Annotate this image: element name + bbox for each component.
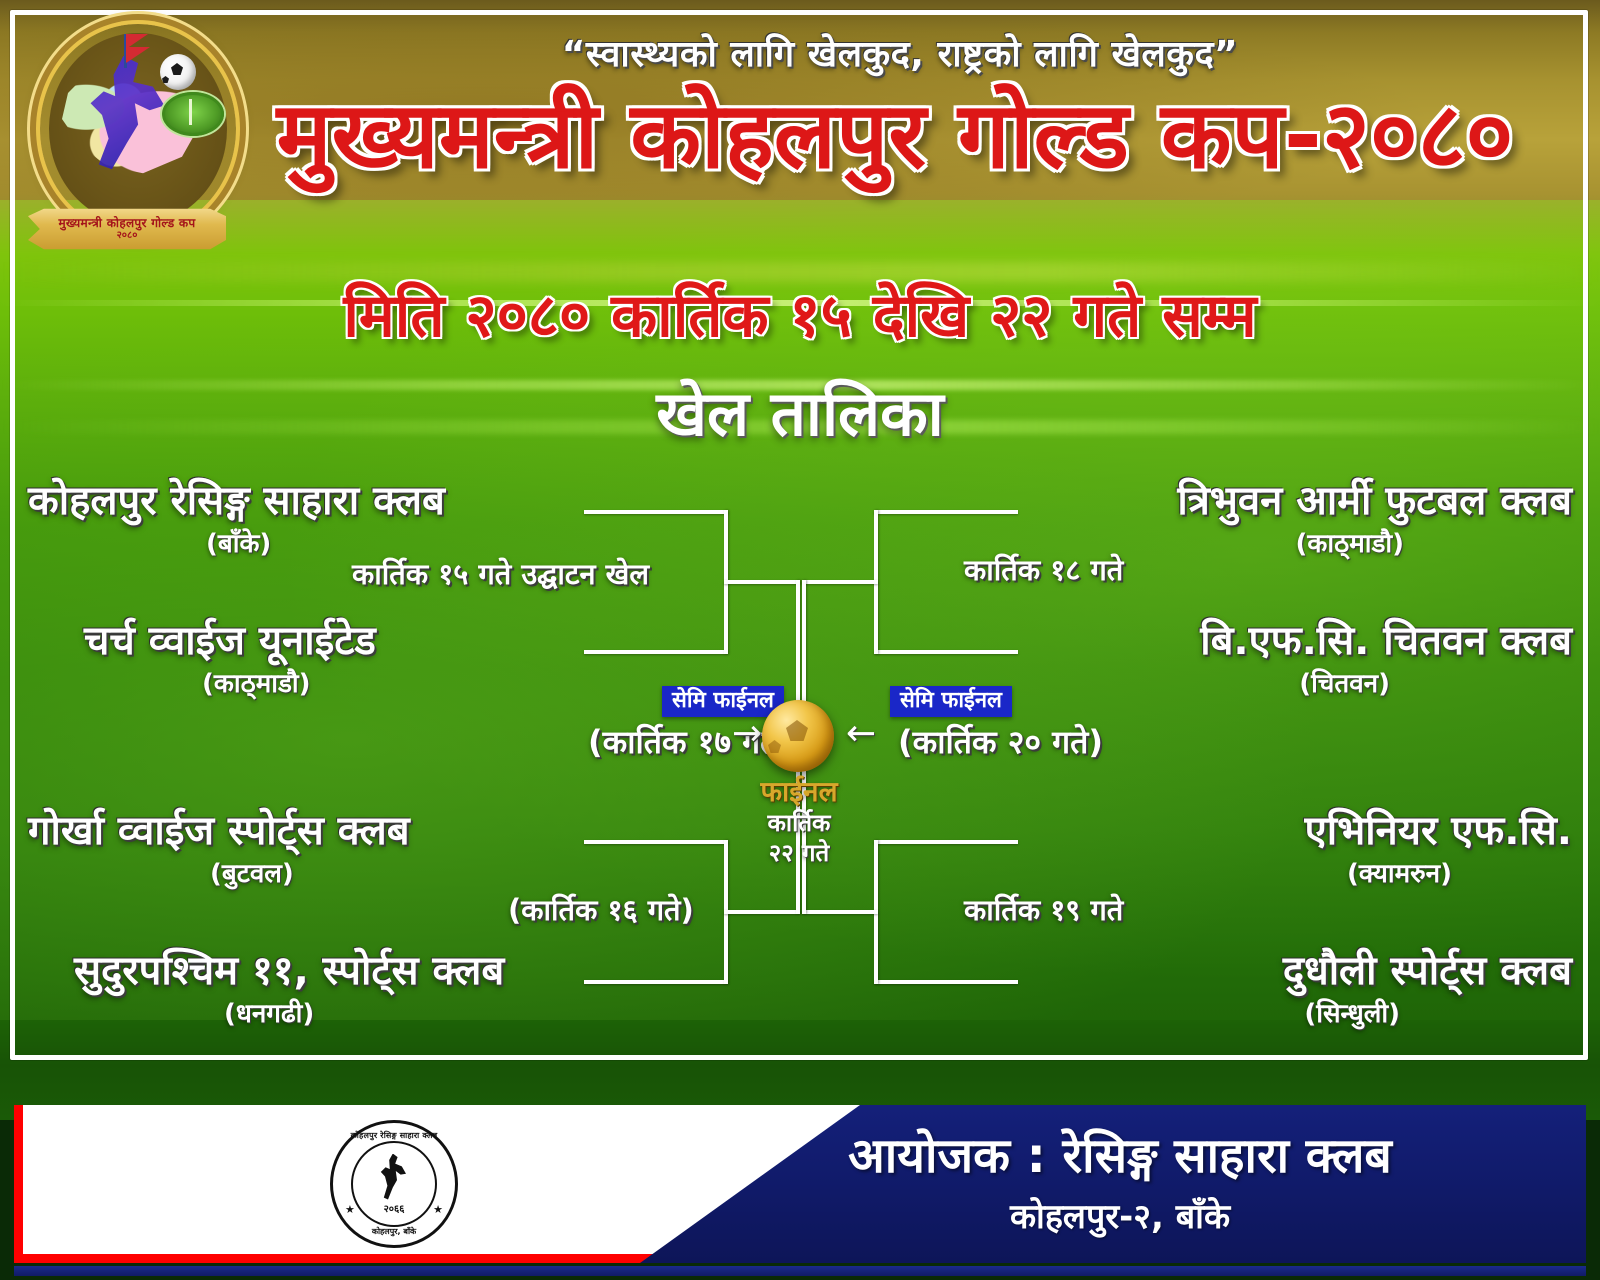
team-name: त्रिभुवन आर्मी फुटबल क्लब xyxy=(1010,480,1572,522)
star-icon: ★ xyxy=(433,1204,443,1215)
footer: कोहलपुर रेसिङ्ग साहारा क्लब २०६६ ★ ★ कोह… xyxy=(0,1100,1600,1280)
tournament-poster: मुख्यमन्त्री कोहलपुर गोल्ड कप २०८० “स्वा… xyxy=(0,0,1600,1280)
bracket-connector xyxy=(584,650,728,654)
semifinal-right-badge: सेमि फाईनल xyxy=(890,686,1012,717)
team-city: (धनगढी) xyxy=(74,994,588,1030)
bracket-team-right-1: त्रिभुवन आर्मी फुटबल क्लब (काठ्माडौ) xyxy=(1010,480,1572,560)
club-seal-bottom-text: कोहलपुर, बाँके xyxy=(333,1226,455,1237)
bracket-team-right-2: बि.एफ.सि. चितवन क्लब (चितवन) xyxy=(1010,620,1572,700)
team-name: एभिनियर एफ.सि. xyxy=(1010,810,1572,852)
semifinal-right-date: (कार्तिक २० गते) xyxy=(898,720,1103,763)
team-city: (काठ्माडौ) xyxy=(84,664,588,700)
team-name: बि.एफ.सि. चितवन क्लब xyxy=(1010,620,1572,662)
match-date-right-top: कार्तिक १८ गते xyxy=(964,550,1123,589)
arrow-right-icon: → xyxy=(732,716,762,752)
bracket-connector xyxy=(724,910,800,914)
final-trophy-ball-icon xyxy=(762,700,834,772)
team-name: गोर्खा व्वाईज स्पोर्ट्स क्लब xyxy=(28,810,588,852)
bracket-team-left-3: गोर्खा व्वाईज स्पोर्ट्स क्लब (बुटवल) xyxy=(28,810,588,890)
bracket-connector xyxy=(584,980,728,984)
match-date-left-top: कार्तिक १५ गते उद्घाटन खेल xyxy=(352,554,649,593)
organizer-name: आयोजक : रेसिङ्ग साहारा क्लब xyxy=(680,1122,1560,1187)
bracket-connector xyxy=(874,980,1018,984)
football-icon xyxy=(160,54,196,90)
tagline: “स्वास्थ्यको लागि खेलकुद, राष्ट्रको लागि… xyxy=(230,28,1570,77)
final-date-month: कार्तिक xyxy=(690,806,908,839)
nepal-flag-icon xyxy=(126,34,152,68)
final-label: फाईनल xyxy=(690,772,908,810)
club-seal: कोहलपुर रेसिङ्ग साहारा क्लब २०६६ ★ ★ कोह… xyxy=(330,1120,458,1248)
star-icon: ★ xyxy=(345,1204,355,1215)
bracket-team-left-2: चर्च व्वाईज यूनाईटेड (काठ्माडौ) xyxy=(84,620,588,700)
team-city: (बुटवल) xyxy=(28,854,588,890)
bracket-team-right-4: दुधौली स्पोर्ट्स क्लब (सिन्धुली) xyxy=(1010,950,1572,1030)
team-name: सुदुरपश्चिम ११, स्पोर्ट्स क्लब xyxy=(74,950,588,992)
logo-ribbon-title: मुख्यमन्त्री कोहलपुर गोल्ड कप xyxy=(58,217,195,229)
bracket-connector xyxy=(802,580,878,584)
page-title: मुख्यमन्त्री कोहलपुर गोल्ड कप-२०८० xyxy=(200,88,1590,185)
match-date-left-bottom: (कार्तिक १६ गते) xyxy=(508,890,694,929)
match-date-right-bottom: कार्तिक १९ गते xyxy=(964,890,1123,929)
bracket-connector xyxy=(874,510,1018,514)
team-name: कोहलपुर रेसिङ्ग साहारा क्लब xyxy=(28,480,588,522)
logo-ribbon-year: २०८० xyxy=(117,229,138,242)
team-city: (क्यामरुन) xyxy=(1010,854,1572,890)
arrow-left-icon: ← xyxy=(846,716,876,752)
club-seal-inner-ring: २०६६ xyxy=(351,1141,437,1227)
team-name: दुधौली स्पोर्ट्स क्लब xyxy=(1010,950,1572,992)
footer-bottom-stripe xyxy=(14,1266,1586,1276)
player-silhouette-icon xyxy=(379,1154,409,1200)
bracket-team-right-3: एभिनियर एफ.सि. (क्यामरुन) xyxy=(1010,810,1572,890)
bracket-connector xyxy=(874,650,1018,654)
club-seal-year: २०६६ xyxy=(384,1201,405,1215)
team-name: चर्च व्वाईज यूनाईटेड xyxy=(84,620,588,662)
logo-ribbon: मुख्यमन्त्री कोहलपुर गोल्ड कप २०८० xyxy=(28,206,226,252)
bracket-connector xyxy=(802,910,878,914)
bracket-team-left-4: सुदुरपश्चिम ११, स्पोर्ट्स क्लब (धनगढी) xyxy=(74,950,588,1030)
bracket-connector xyxy=(724,580,800,584)
schedule-heading: खेल तालिका xyxy=(100,370,1500,454)
semifinal-left-badge: सेमि फाईनल xyxy=(662,686,784,717)
team-city: (चितवन) xyxy=(1010,664,1572,700)
final-date-day: २२ गते xyxy=(690,836,908,869)
club-seal-top-text: कोहलपुर रेसिङ्ग साहारा क्लब xyxy=(333,1130,455,1141)
team-city: (सिन्धुली) xyxy=(1010,994,1572,1030)
organizer-address: कोहलपुर-२, बाँके xyxy=(680,1192,1560,1238)
event-date-range: मिति २०८० कार्तिक १५ देखि २२ गते सम्म xyxy=(100,272,1500,354)
bracket-connector xyxy=(584,510,728,514)
bracket-team-left-1: कोहलपुर रेसिङ्ग साहारा क्लब (बाँके) xyxy=(28,480,588,560)
